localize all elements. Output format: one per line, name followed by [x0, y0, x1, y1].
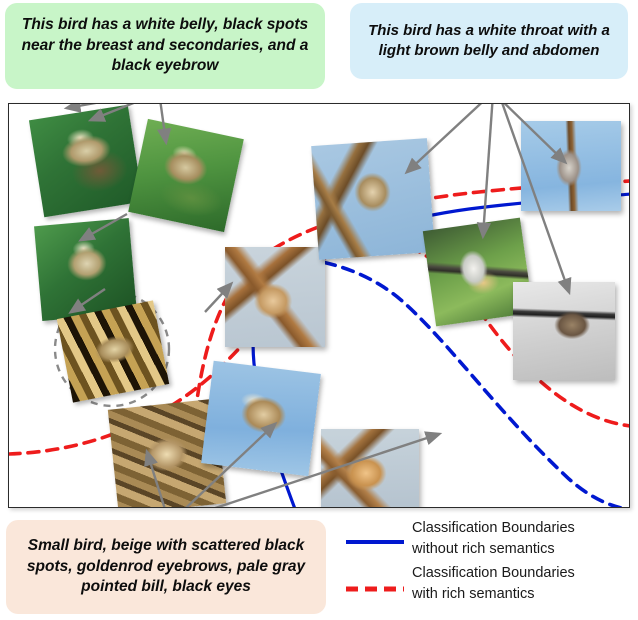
bird-thumb-sparrow-tiny [321, 429, 419, 508]
legend-label-1-line2: with rich semantics [412, 584, 575, 605]
legend-label-1-line1: Classification Boundaries [412, 563, 575, 584]
bird-thumb-flycatcher-sky [311, 138, 435, 260]
callout-blue-description: This bird has a white throat with a ligh… [350, 3, 628, 79]
legend-swatch-solid-line [344, 519, 406, 565]
legend-item-0: Classification Boundaries without rich s… [344, 519, 636, 565]
scatter-plot-panel [8, 103, 630, 508]
legend: Classification Boundaries without rich s… [344, 519, 636, 617]
bird-thumb-flycatcher-wire [521, 121, 621, 211]
bird-thumb-flycatcher-gray [513, 282, 615, 380]
legend-label-0-line1: Classification Boundaries [412, 518, 575, 539]
callout-green-description: This bird has a white belly, black spots… [5, 3, 325, 89]
bird-thumb-sparrow-branch [225, 247, 325, 347]
callout-orange-description: Small bird, beige with scattered black s… [6, 520, 326, 614]
bird-thumb-sparrow-green-1 [29, 105, 143, 217]
bird-thumb-sparrow-sky [201, 361, 321, 476]
legend-swatch-dashed-line [344, 565, 406, 613]
legend-item-1: Classification Boundaries with rich sema… [344, 565, 636, 613]
bird-thumb-sparrow-green-2 [128, 119, 244, 232]
legend-label-0-line2: without rich semantics [412, 539, 575, 560]
